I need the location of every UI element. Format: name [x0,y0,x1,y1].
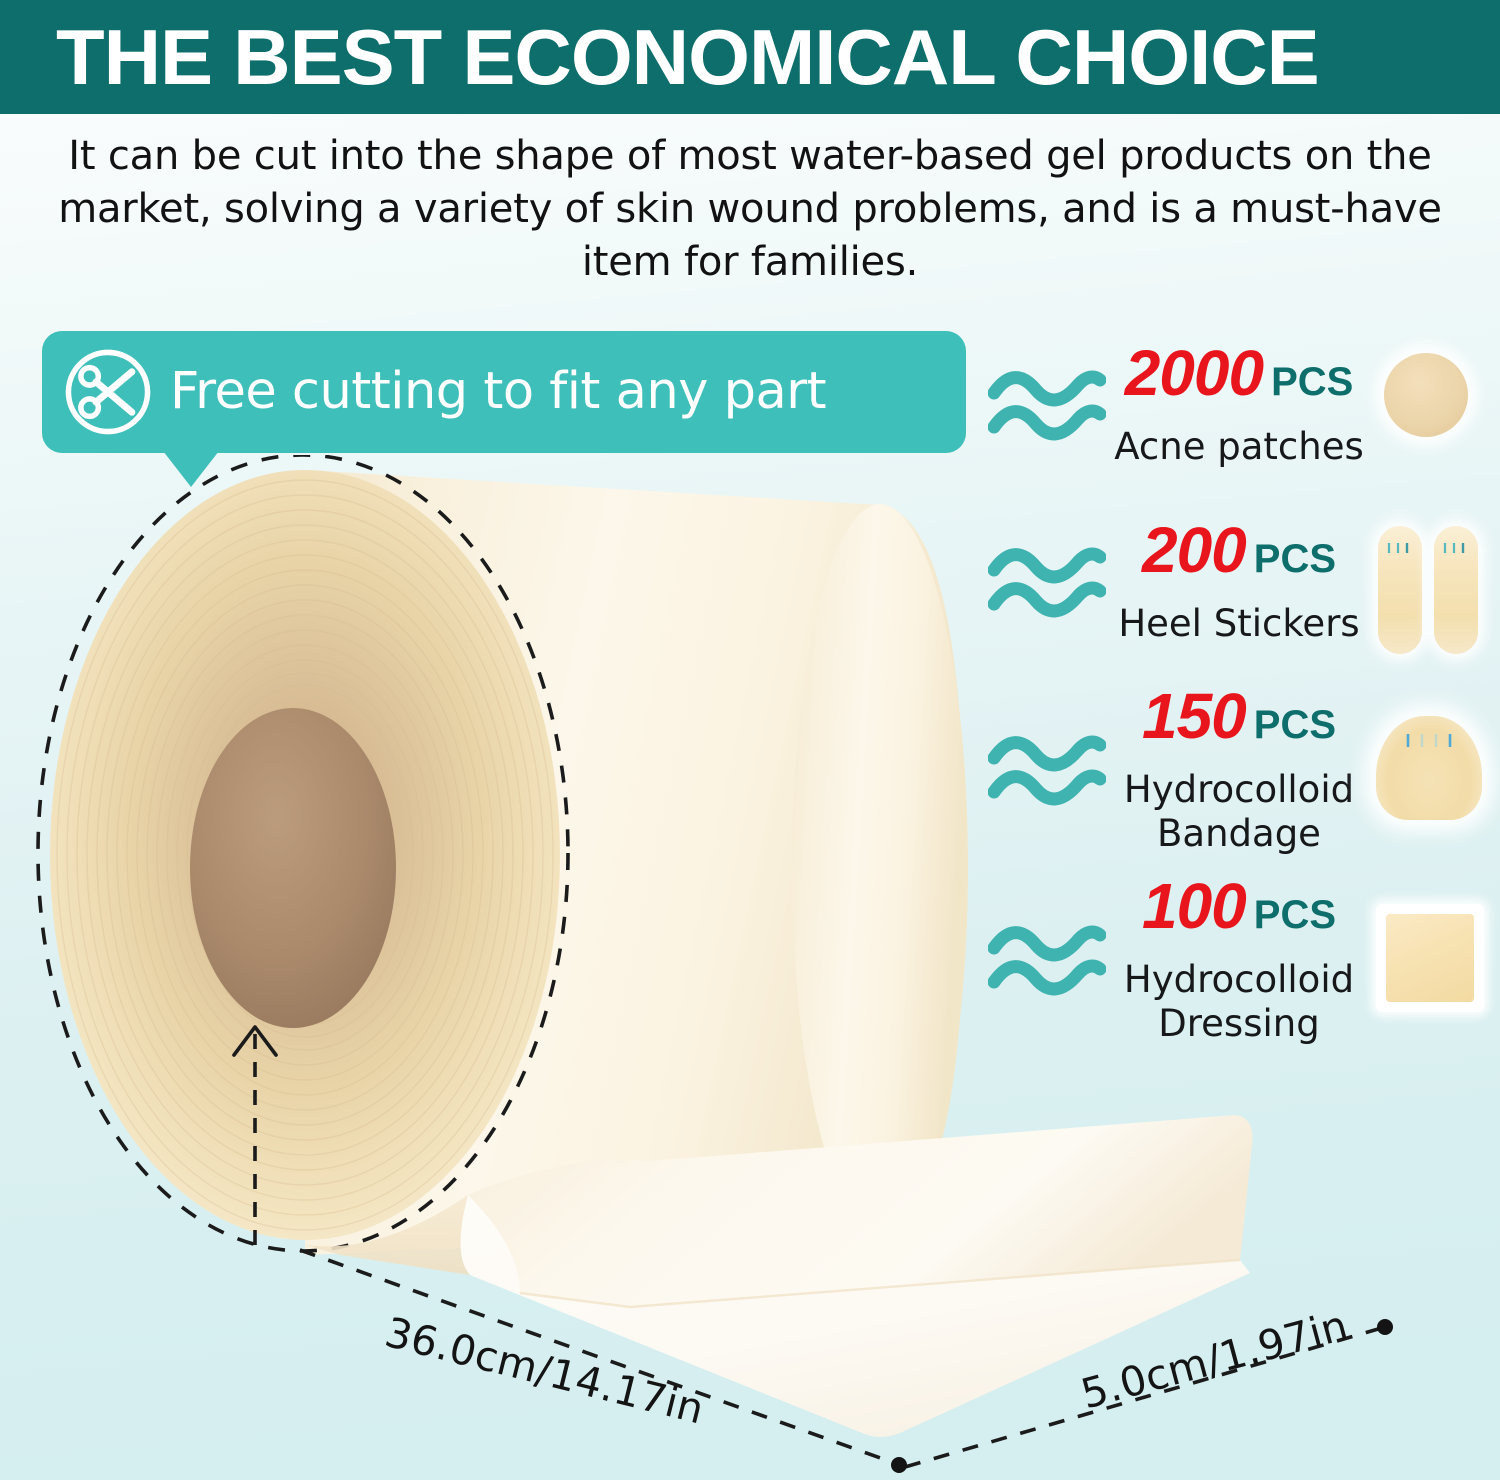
free-cutting-label: Free cutting to fit any part [170,364,826,420]
infographic-page: THE BEST ECONOMICAL CHOICE It can be cut… [0,0,1500,1480]
feature-unit: PCS [1271,360,1353,404]
acne-patch-icon [1384,353,1468,437]
free-cutting-banner: Free cutting to fit any part [42,331,966,453]
subtitle-text: It can be cut into the shape of most wat… [30,130,1470,289]
round-patch-thumb [1370,345,1488,465]
wave-icon [988,369,1106,441]
feature-text: 2000PCS Acne patches [1112,341,1370,469]
scissors-icon [62,346,154,438]
feature-row: 2000PCS Acne patches [988,335,1488,475]
feature-quantity: 2000 [1125,337,1263,409]
header-banner: THE BEST ECONOMICAL CHOICE [0,0,1500,114]
page-title: THE BEST ECONOMICAL CHOICE [56,17,1319,97]
